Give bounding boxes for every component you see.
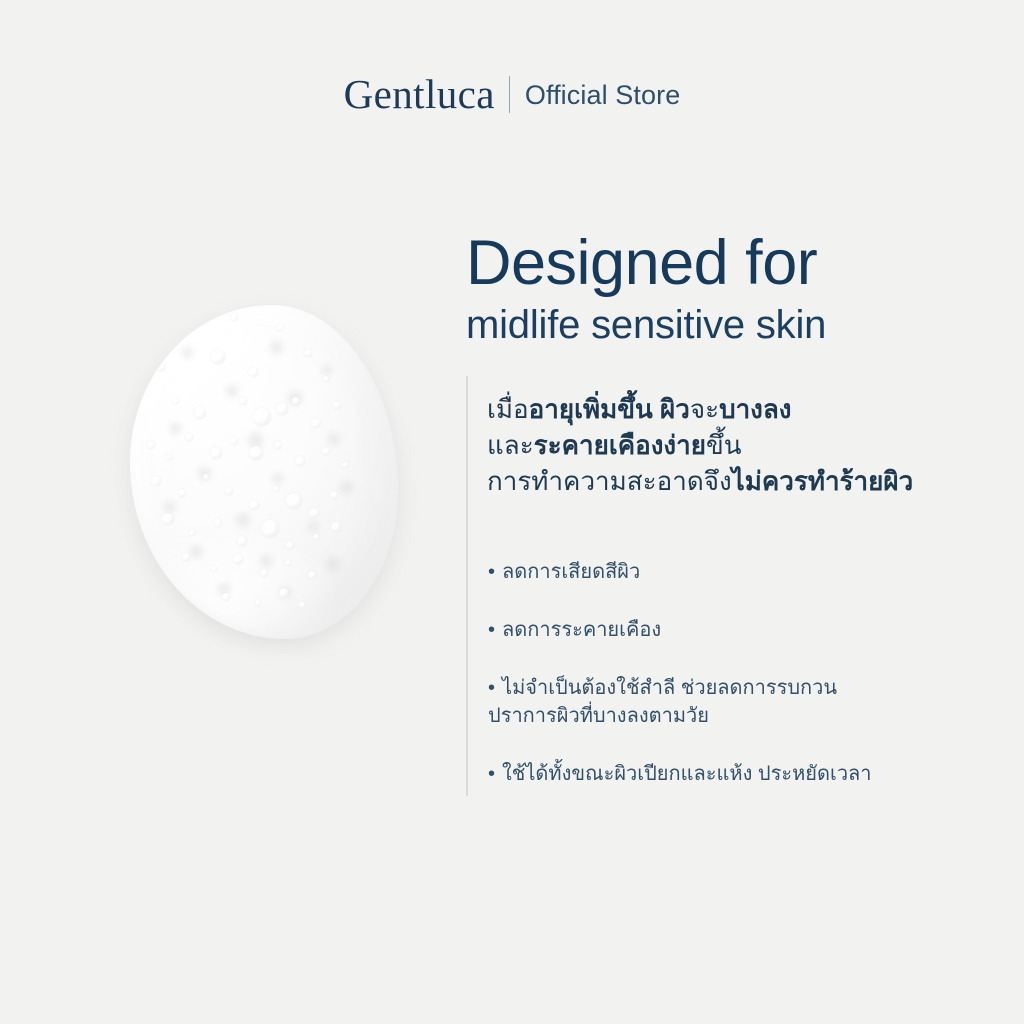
vertical-divider	[466, 376, 468, 796]
gel-edge-shading	[130, 305, 398, 639]
lede-line-2: และระคายเคืองง่ายขึ้น	[487, 427, 1007, 463]
benefit-item: •ลดการระคายเคือง	[488, 616, 988, 644]
bullet-dot-icon: •	[488, 674, 495, 702]
benefit-text: ปราการผิวที่บางลงตามวัย	[488, 705, 709, 727]
lede-emphasis: ไม่ควรทำร้ายผิว	[732, 466, 914, 496]
benefit-item: •ไม่จำเป็นต้องใช้สำลี ช่วยลดการรบกวนปราก…	[488, 674, 988, 730]
brand-suffix-label: Official Store	[510, 80, 680, 109]
lede-line-1: เมื่ออายุเพิ่มขึ้น ผิวจะบางลง	[487, 391, 1007, 427]
lede-emphasis: อายุเพิ่มขึ้น ผิว	[529, 394, 690, 424]
clear-gel-droplet-swatch	[118, 292, 402, 654]
bullet-dot-icon: •	[488, 760, 495, 788]
brand-divider-icon	[509, 76, 510, 113]
benefit-line: •ไม่จำเป็นต้องใช้สำลี ช่วยลดการรบกวน	[488, 674, 988, 702]
bullet-dot-icon: •	[488, 616, 495, 644]
gel-blob-body	[130, 305, 398, 639]
lede-emphasis: บางลง	[719, 394, 791, 424]
benefit-text: ลดการระคายเคือง	[502, 619, 661, 641]
gel-bubble	[148, 324, 158, 334]
headline-secondary: midlife sensitive skin	[466, 300, 996, 350]
benefit-text: ใช้ได้ทั้งขณะผิวเปียกและแห้ง ประหยัดเวลา	[502, 763, 872, 785]
lede-text: และ	[487, 430, 534, 460]
benefit-line: •ใช้ได้ทั้งขณะผิวเปียกและแห้ง ประหยัดเวล…	[488, 760, 988, 788]
lede-text: จะ	[690, 394, 719, 424]
bullet-dot-icon: •	[488, 558, 495, 586]
benefit-item: •ใช้ได้ทั้งขณะผิวเปียกและแห้ง ประหยัดเวล…	[488, 760, 988, 788]
benefit-line: ปราการผิวที่บางลงตามวัย	[488, 702, 988, 730]
brand-lockup: Gentluca Official Store	[0, 74, 1024, 115]
brand-name: Gentluca	[344, 74, 509, 115]
promotional-banner: Gentluca Official Store Designed for mid…	[0, 0, 1024, 1024]
lede-paragraph: เมื่ออายุเพิ่มขึ้น ผิวจะบางลง และระคายเค…	[487, 391, 1007, 499]
lede-text: ขึ้น	[706, 430, 742, 460]
lede-emphasis: ระคายเคืองง่าย	[534, 430, 706, 460]
benefit-line: •ลดการเสียดสีผิว	[488, 558, 988, 586]
benefit-text: ไม่จำเป็นต้องใช้สำลี ช่วยลดการรบกวน	[502, 677, 837, 699]
lede-text: เมื่อ	[487, 394, 529, 424]
lede-line-3: การทำความสะอาดจึงไม่ควรทำร้ายผิว	[487, 463, 1007, 499]
benefit-line: •ลดการระคายเคือง	[488, 616, 988, 644]
benefit-text: ลดการเสียดสีผิว	[502, 561, 640, 583]
benefits-list: •ลดการเสียดสีผิว•ลดการระคายเคือง•ไม่จำเป…	[488, 558, 988, 788]
benefit-item: •ลดการเสียดสีผิว	[488, 558, 988, 586]
headline-primary: Designed for	[466, 228, 996, 298]
headline-block: Designed for midlife sensitive skin	[466, 228, 996, 350]
lede-text: การทำความสะอาดจึง	[487, 466, 732, 496]
